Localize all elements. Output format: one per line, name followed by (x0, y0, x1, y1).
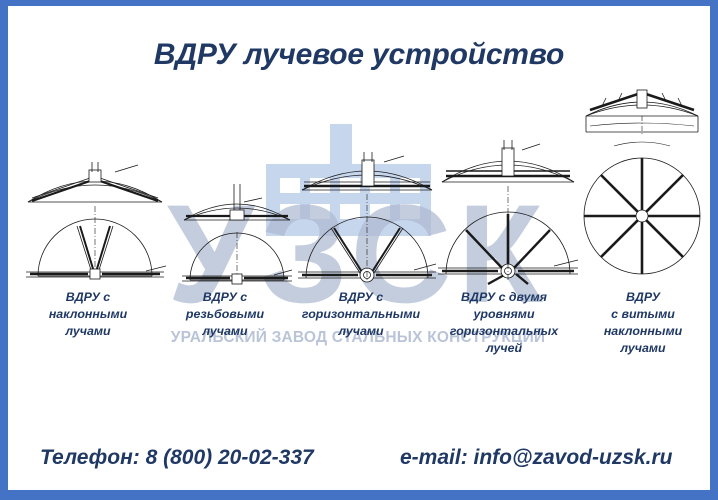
page-title: ВДРУ лучевое устройство (8, 38, 710, 72)
figure-twisted-inclined-rays (580, 88, 704, 288)
footer-contacts: Телефон: 8 (800) 20-02-337 e-mail: info@… (8, 442, 710, 482)
email-address[interactable]: e-mail: info@zavod-uzsk.ru (400, 446, 673, 470)
figure-two-level-horizontal-rays (436, 132, 580, 288)
technical-drawing-dome-two-level-rays (436, 132, 580, 288)
caption-horizontal-rays: ВДРУ с горизонтальными лучами (288, 289, 434, 340)
technical-drawing-circle-twisted-rays (580, 88, 704, 288)
caption-twisted-rays: ВДРУ с витыми наклонными лучами (580, 289, 706, 357)
figure-threaded-rays (178, 180, 296, 288)
technical-drawing-dome-threaded-rays (178, 180, 296, 288)
caption-inclined-rays: ВДРУ с наклонными лучами (18, 289, 158, 340)
caption-threaded-rays: ВДРУ с резьбовыми лучами (160, 289, 290, 340)
phone-number[interactable]: Телефон: 8 (800) 20-02-337 (40, 446, 314, 470)
caption-two-level-rays: ВДРУ с двумя уровнями горизонтальных луч… (430, 289, 578, 357)
drawings-row (8, 84, 710, 296)
figure-inclined-rays (20, 154, 170, 284)
captions-row: ВДРУ с наклонными лучами ВДРУ с резьбовы… (8, 289, 710, 369)
technical-drawing-dome-inclined-rays (20, 154, 170, 284)
figure-horizontal-rays (296, 146, 438, 288)
technical-drawing-dome-horizontal-rays (296, 146, 438, 288)
slide-canvas: ВДРУ лучевое устройство УЗСК УРАЛЬСКИЙ (8, 6, 710, 490)
